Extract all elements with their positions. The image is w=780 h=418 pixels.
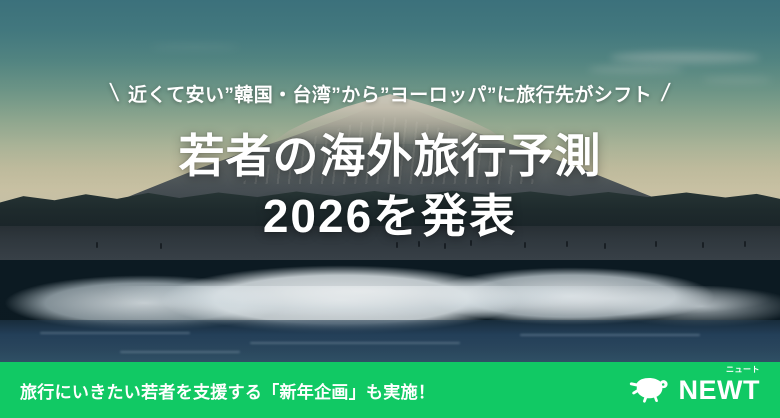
banner-content: \ 近くて安い”韓国・台湾”から”ヨーロッパ”に旅行先がシフト / 若者の海外旅… xyxy=(0,0,780,418)
kicker-line: \ 近くて安い”韓国・台湾”から”ヨーロッパ”に旅行先がシフト / xyxy=(0,80,780,107)
turtle-icon xyxy=(625,376,671,404)
newt-wordmark: ニュート NEWT xyxy=(679,377,760,404)
newt-wordmark-text: NEWT xyxy=(679,375,760,405)
slash-right-decoration: / xyxy=(660,81,672,106)
promo-banner: \ 近くて安い”韓国・台湾”から”ヨーロッパ”に旅行先がシフト / 若者の海外旅… xyxy=(0,0,780,418)
newt-ruby-text: ニュート xyxy=(726,366,760,374)
slash-left-decoration: \ xyxy=(108,81,120,106)
headline-line-2: 2026を発表 xyxy=(0,187,780,247)
footer-message: 旅行にいきたい若者を支援する「新年企画」も実施！ xyxy=(20,378,435,403)
headline-line-1: 若者の海外旅行予測 xyxy=(0,127,780,187)
footer-bar: 旅行にいきたい若者を支援する「新年企画」も実施！ ニュート NEWT xyxy=(0,362,780,418)
headline: 若者の海外旅行予測 2026を発表 xyxy=(0,127,780,247)
kicker-text: 近くて安い”韓国・台湾”から”ヨーロッパ”に旅行先がシフト xyxy=(128,80,652,107)
newt-logo[interactable]: ニュート NEWT xyxy=(625,376,762,404)
